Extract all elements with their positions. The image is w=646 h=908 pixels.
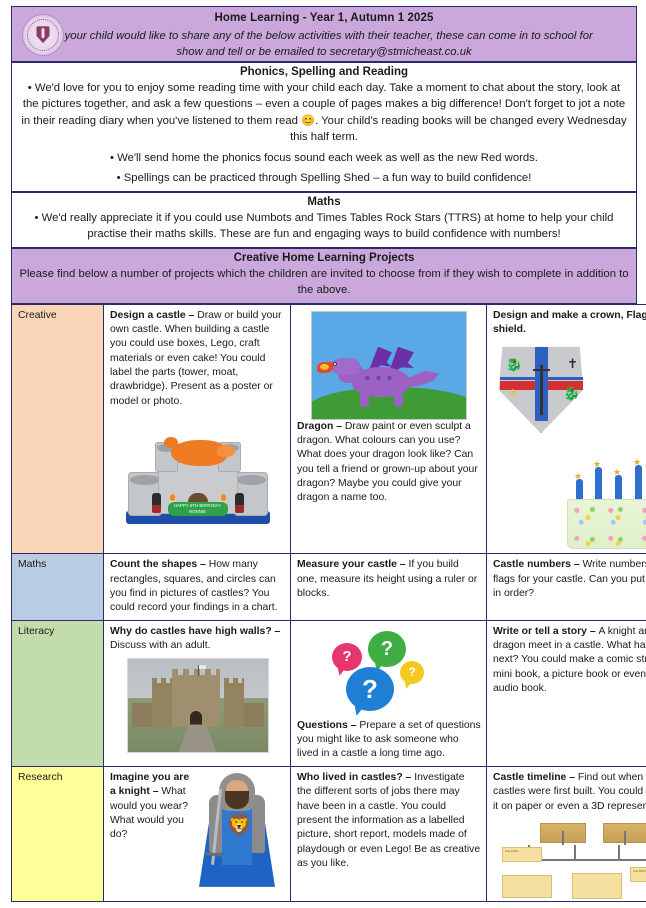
task-text: Dragon – Draw paint or even sculpt a dra… (297, 420, 481, 506)
question-bubble-yellow: ? (400, 661, 424, 684)
knight-photo-image: 🦁 (193, 765, 281, 887)
crown-star-icon: ★ (613, 468, 621, 477)
shield-and-crown-image: 🐉 ✝ ⚜ 🐉 ★ ★ ★ ★ (493, 337, 646, 549)
shield-griffin-icon: 🐉 (564, 387, 580, 400)
task-text: Measure your castle – If you build one, … (297, 558, 481, 601)
cell-creative-3: Design and make a crown, Flag or shield.… (487, 304, 646, 554)
home-learning-sheet: Home Learning - Year 1, Autumn 1 2025 If… (0, 0, 646, 908)
projects-banner-table: Creative Home Learning Projects Please f… (11, 248, 637, 304)
page-title: Home Learning - Year 1, Autumn 1 2025 (12, 12, 636, 24)
phonics-bullet-2: • We'll send home the phonics focus soun… (12, 150, 636, 170)
dragon-leg-2 (394, 391, 403, 407)
knight-lion-icon: 🦁 (226, 815, 252, 836)
task-text: Questions – Prepare a set of questions y… (297, 719, 481, 762)
table-row: Creative Design a castle – Draw or build… (12, 304, 646, 554)
crown-star-icon: ★ (574, 472, 582, 481)
school-crest-icon (22, 14, 64, 56)
row-label-maths: Maths (12, 554, 104, 620)
shield-fleur-icon: ⚜ (507, 387, 519, 400)
dragon-drawing-image (311, 311, 467, 420)
cell-research-1: 🦁 Imagine you are a knight – What would … (104, 766, 291, 901)
row-label-research: Research (12, 766, 104, 901)
projects-heading: Creative Home Learning Projects (12, 249, 636, 266)
timeline-connector (562, 831, 564, 845)
question-bubble-green: ? (368, 631, 406, 667)
cell-maths-1: Count the shapes – How many rectangles, … (104, 554, 291, 620)
maths-heading: Maths (12, 193, 636, 210)
cake-banner-text: HAPPY 6TH BIRTHDAY RONNIE (168, 502, 228, 516)
task-heading: Count the shapes – (110, 559, 209, 570)
table-row: Literacy Why do castles have high walls?… (12, 620, 646, 766)
task-heading: Design and make a crown, Flag or shield. (493, 310, 646, 335)
task-text: Castle timeline – Find out when castles … (493, 771, 646, 814)
task-body: Discuss with an adult. (110, 640, 211, 651)
task-heading: Who lived in castles? – (297, 772, 414, 783)
task-text: Write or tell a story – A knight and a d… (493, 625, 646, 697)
table-row: Research 🦁 Imagine you are a knight – Wh… (12, 766, 646, 901)
task-heading: Castle timeline – (493, 772, 578, 783)
cell-literacy-2: ? ? ? ? Questions – Prepare a set of que… (291, 620, 487, 766)
phonics-bullet-3: • Spellings can be practiced through Spe… (12, 170, 636, 190)
cell-literacy-1: Why do castles have high walls? – Discus… (104, 620, 291, 766)
row-label-creative: Creative (12, 304, 104, 554)
castle-photo-image (127, 658, 269, 753)
projects-grid: Creative Design a castle – Draw or build… (11, 304, 646, 902)
maths-cell: Maths • We'd really appreciate it if you… (12, 192, 637, 247)
dragon-head (330, 358, 360, 375)
task-heading: Dragon – (297, 421, 345, 432)
timeline-note-2 (572, 873, 622, 899)
castle-cake-image: HAPPY 6TH BIRTHDAY RONNIE (122, 416, 274, 524)
dragon-fire-icon (317, 362, 333, 373)
timeline-tick (574, 845, 576, 861)
shield-dragon-icon: 🐉 (506, 358, 522, 371)
task-heading: Why do castles have high walls? – (110, 626, 280, 637)
castle-tower-right (224, 683, 244, 727)
timeline-label-2: Year 1800's (630, 867, 646, 882)
crown-image: ★ ★ ★ ★ ★ (567, 463, 646, 549)
cake-guard-left (152, 493, 161, 513)
timeline-graphic-image: Year 1000's Year 1800's (500, 823, 646, 895)
cell-research-3: Castle timeline – Find out when castles … (487, 766, 646, 901)
projects-intro: Please find below a number of projects w… (12, 266, 636, 303)
question-bubbles-image: ? ? ? ? (324, 629, 454, 717)
cell-research-2: Who lived in castles? – Investigate the … (291, 766, 487, 901)
question-bubble-blue: ? (346, 667, 394, 711)
task-body: Investigate the different sorts of jobs … (297, 772, 480, 869)
shield-sword-icon (540, 365, 543, 415)
task-body: Draw paint or even sculpt a dragon. What… (297, 421, 478, 504)
timeline-label-1: Year 1000's (502, 847, 542, 862)
crown-band (567, 499, 646, 549)
dragon-leg-1 (360, 391, 369, 407)
maths-bullet-1: • We'd really appreciate it if you could… (12, 210, 636, 247)
cell-literacy-3: Write or tell a story – A knight and a d… (487, 620, 646, 766)
phonics-heading: Phonics, Spelling and Reading (12, 63, 636, 80)
cake-dragon-icon (171, 440, 227, 466)
table-row: Maths Count the shapes – How many rectan… (12, 554, 646, 620)
cake-guard-right (235, 493, 244, 513)
phonics-table: Phonics, Spelling and Reading • We'd lov… (11, 62, 637, 192)
timeline-connector (624, 831, 626, 845)
cell-maths-3: Castle numbers – Write numbers on flags … (487, 554, 646, 620)
header-cell: Home Learning - Year 1, Autumn 1 2025 If… (12, 7, 637, 62)
task-text: Who lived in castles? – Investigate the … (297, 771, 481, 872)
task-heading: Measure your castle – (297, 559, 408, 570)
timeline-note-1 (502, 875, 552, 898)
shield-cross-icon: ✝ (567, 357, 578, 370)
task-text: Castle numbers – Write numbers on flags … (493, 558, 646, 601)
row-label-literacy: Literacy (12, 620, 104, 766)
task-heading: Design a castle – (110, 310, 197, 321)
cell-creative-1: Design a castle – Draw or build your own… (104, 304, 291, 554)
cell-maths-2: Measure your castle – If you build one, … (291, 554, 487, 620)
task-text: Design and make a crown, Flag or shield. (493, 309, 646, 338)
header-table: Home Learning - Year 1, Autumn 1 2025 If… (11, 6, 637, 62)
task-text: Why do castles have high walls? – Discus… (110, 625, 285, 654)
maths-table: Maths • We'd really appreciate it if you… (11, 192, 637, 248)
shield-image: 🐉 ✝ ⚜ 🐉 (497, 343, 589, 435)
task-heading: Castle numbers – (493, 559, 583, 570)
castle-path (179, 724, 217, 752)
task-heading: Write or tell a story – (493, 626, 598, 637)
question-bubble-pink: ? (332, 643, 362, 671)
knight-beard (225, 791, 249, 809)
task-text: Count the shapes – How many rectangles, … (110, 558, 285, 615)
task-body: Draw or build your own castle. When buil… (110, 310, 282, 407)
task-heading: Questions – (297, 720, 359, 731)
header-subtitle: If your child would like to share any of… (12, 28, 636, 61)
crown-star-icon: ★ (633, 458, 641, 467)
projects-banner-cell: Creative Home Learning Projects Please f… (12, 248, 637, 303)
cell-creative-2: Dragon – Draw paint or even sculpt a dra… (291, 304, 487, 554)
castle-tower-left (152, 683, 172, 727)
task-text: Design a castle – Draw or build your own… (110, 309, 285, 410)
timeline-tick (618, 845, 620, 861)
castle-flag-icon (198, 665, 199, 676)
phonics-bullet-1: • We'd love for you to enjoy some readin… (12, 80, 636, 150)
crown-star-icon: ★ (593, 460, 601, 469)
phonics-cell: Phonics, Spelling and Reading • We'd lov… (12, 62, 637, 191)
